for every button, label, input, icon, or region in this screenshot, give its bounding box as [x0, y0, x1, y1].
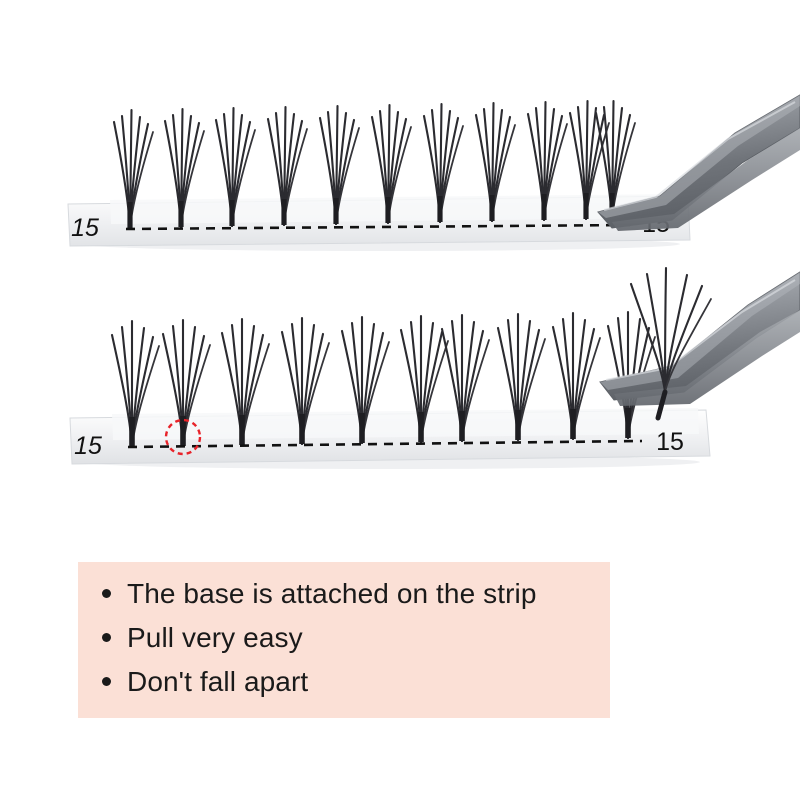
length-label-lower-right: 15	[656, 428, 684, 456]
bullet-point-icon	[102, 677, 111, 686]
feature-text: Don't fall apart	[127, 668, 308, 696]
length-label-lower-left: 15	[74, 432, 102, 460]
infographic-canvas: 15 15	[0, 0, 800, 800]
feature-list: The base is attached on the strip Pull v…	[78, 580, 610, 712]
curved-tweezers-upper	[598, 95, 800, 231]
feature-text: The base is attached on the strip	[127, 580, 537, 608]
bullet-point-icon	[102, 633, 111, 642]
feature-callout-box: The base is attached on the strip Pull v…	[78, 562, 610, 718]
list-item: Don't fall apart	[78, 668, 610, 712]
feature-text: Pull very easy	[127, 624, 303, 652]
list-item: Pull very easy	[78, 624, 610, 668]
upper-strip-panel: 15 15	[68, 95, 800, 251]
bullet-point-icon	[102, 589, 111, 598]
list-item: The base is attached on the strip	[78, 580, 610, 624]
length-label-upper-left: 15	[71, 214, 99, 242]
lower-strip-panel: 15 15	[70, 268, 800, 469]
